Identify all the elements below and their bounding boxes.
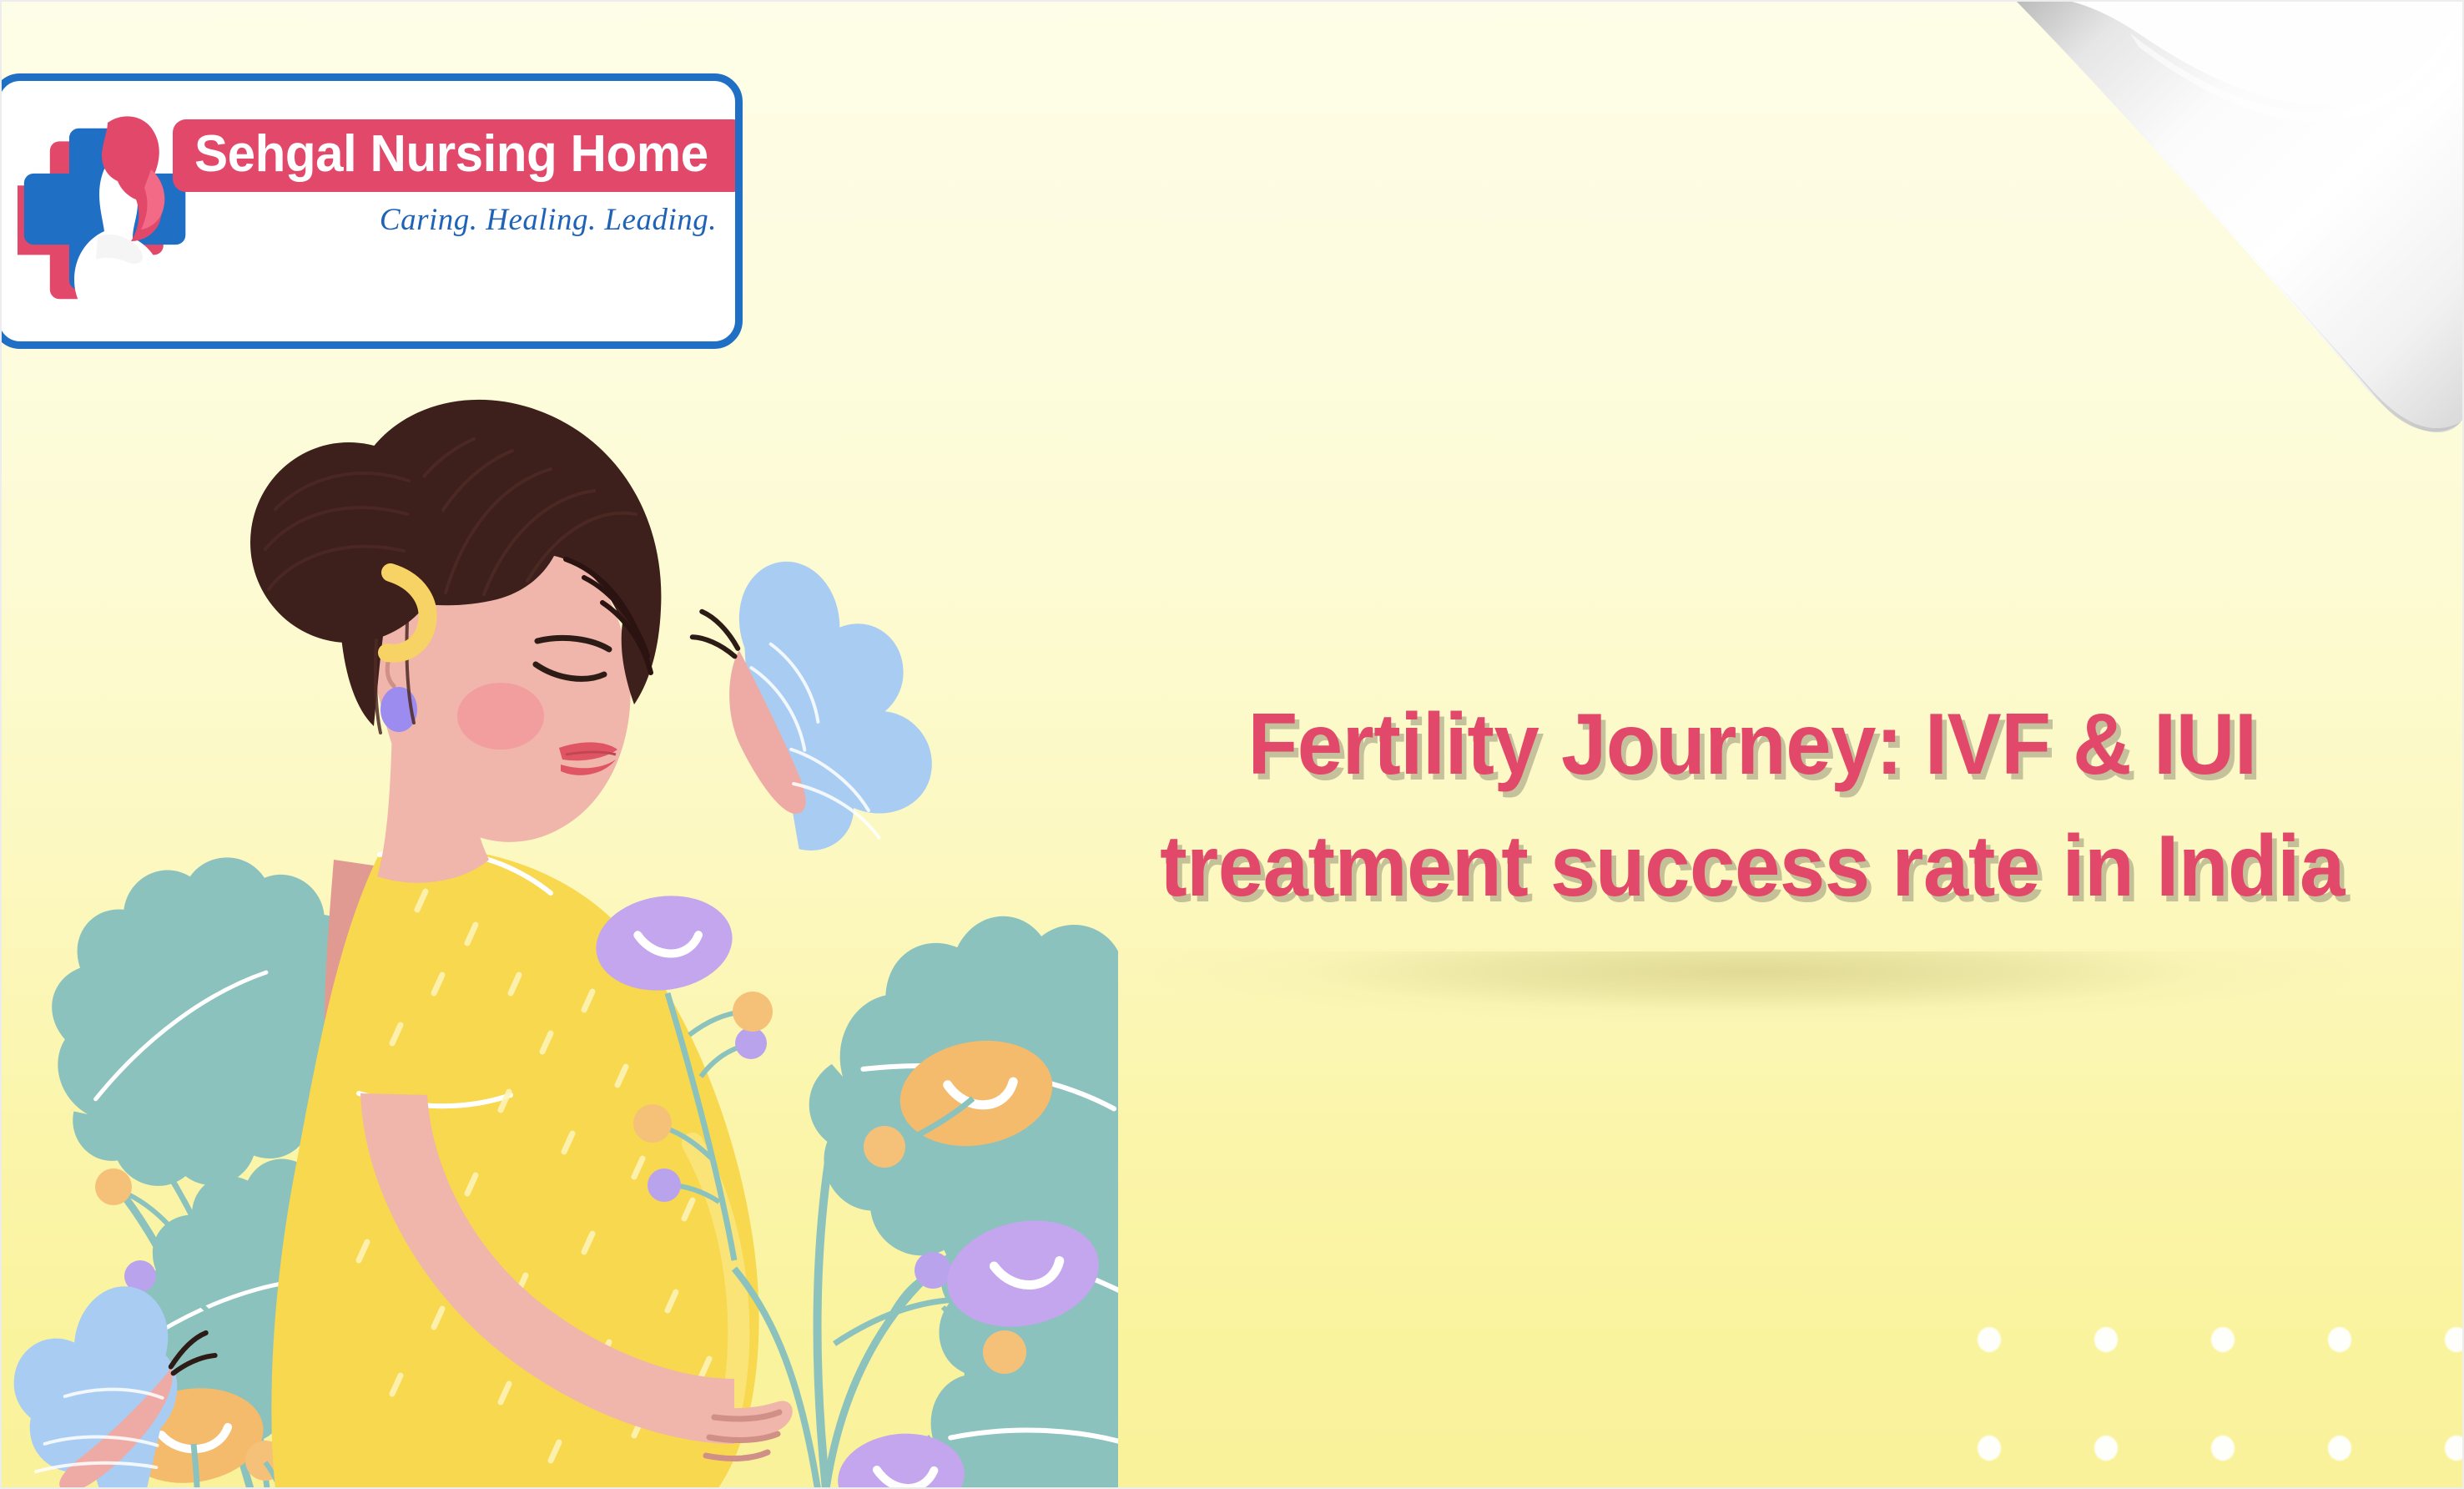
dot: [1978, 1327, 2001, 1352]
berry-dot: [915, 1252, 951, 1289]
dot: [2211, 1436, 2235, 1461]
dot: [2445, 1327, 2464, 1352]
banner-canvas: Sehgal Nursing Home Caring. Healing. Lea…: [0, 0, 2464, 1489]
dot-grid-decoration: [1978, 1327, 2464, 1489]
dot: [2094, 1327, 2118, 1352]
pregnant-woman-illustration: [0, 359, 1118, 1489]
dot: [2328, 1327, 2351, 1352]
title-drop-shadow: [1126, 951, 2378, 1052]
berry-dot: [983, 1330, 1026, 1374]
dot: [1978, 1436, 2001, 1461]
logo-name: Sehgal Nursing Home: [194, 127, 708, 181]
logo-card[interactable]: Sehgal Nursing Home Caring. Healing. Lea…: [0, 73, 743, 349]
logo-name-bar: Sehgal Nursing Home: [173, 119, 743, 192]
title-line-2: treatment success rate in India: [1117, 806, 2388, 928]
page-title: Fertility Journey: IVF & IUI treatment s…: [1076, 684, 2428, 927]
page-curl-decoration: [1997, 0, 2464, 451]
berry-dot: [95, 1168, 132, 1205]
dot: [2094, 1436, 2118, 1461]
woman-head: [250, 400, 661, 883]
butterfly-upper: [659, 548, 963, 870]
title-line-1: Fertility Journey: IVF & IUI: [1117, 684, 2388, 806]
dot: [2445, 1436, 2464, 1461]
dot: [2328, 1436, 2351, 1461]
dot: [2211, 1327, 2235, 1352]
logo-tagline: Caring. Healing. Leading.: [166, 202, 742, 238]
